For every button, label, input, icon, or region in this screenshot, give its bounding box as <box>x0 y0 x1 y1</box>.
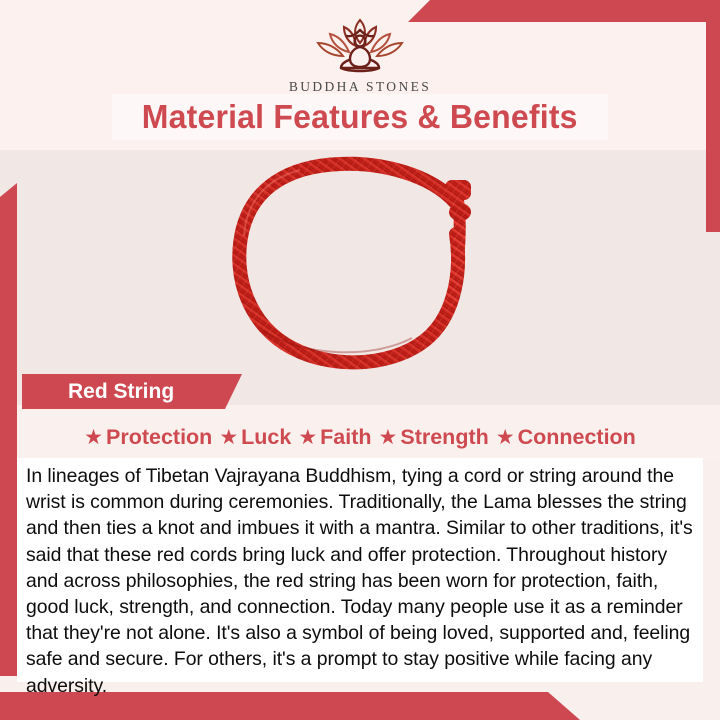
benefit-item-faith: ★ Faith <box>298 425 371 450</box>
description-paragraph: In lineages of Tibetan Vajrayana Buddhis… <box>26 463 694 699</box>
star-icon: ★ <box>219 427 238 448</box>
benefit-label: Connection <box>518 425 636 450</box>
benefit-label: Protection <box>106 425 212 450</box>
star-icon: ★ <box>496 427 515 448</box>
star-icon: ★ <box>298 427 317 448</box>
description-card: In lineages of Tibetan Vajrayana Buddhis… <box>17 458 703 682</box>
brand-wordmark: BUDDHA STONES <box>0 79 720 95</box>
star-icon: ★ <box>84 427 103 448</box>
star-icon: ★ <box>379 427 398 448</box>
promo-poster: BUDDHA STONES Material Features & Benefi… <box>0 0 720 720</box>
benefit-label: Luck <box>241 425 291 450</box>
product-name-label: Red String <box>68 380 174 404</box>
benefit-item-luck: ★ Luck <box>219 425 291 450</box>
benefit-label: Strength <box>400 425 488 450</box>
product-name-ribbon: Red String <box>22 374 242 409</box>
benefit-item-protection: ★ Protection <box>84 425 212 450</box>
brand-logo: BUDDHA STONES <box>0 12 720 95</box>
benefit-item-strength: ★ Strength <box>379 425 489 450</box>
product-image <box>0 150 720 380</box>
benefit-label: Faith <box>320 425 371 450</box>
lotus-meditation-icon <box>299 12 421 78</box>
page-title-plate: Material Features & Benefits <box>112 94 608 140</box>
red-braided-string-bracelet-icon <box>0 150 720 380</box>
benefits-row: ★ Protection ★ Luck ★ Faith ★ Strength ★… <box>0 420 720 454</box>
page-title: Material Features & Benefits <box>142 98 578 136</box>
benefit-item-connection: ★ Connection <box>496 425 636 450</box>
